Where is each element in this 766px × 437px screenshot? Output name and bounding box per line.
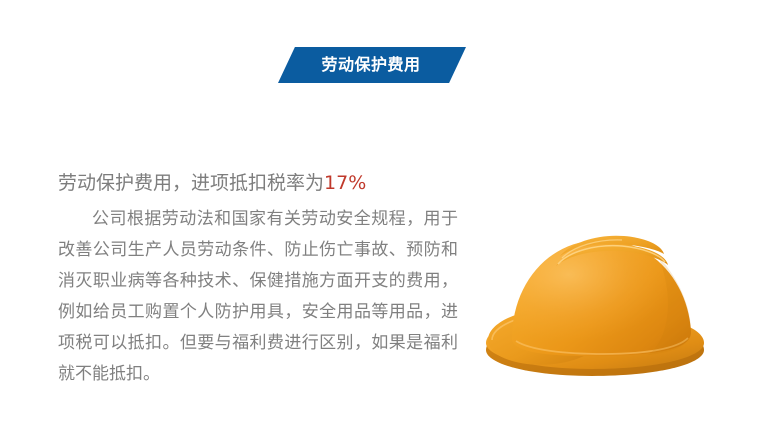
- deduction-rate-value: 17%: [324, 172, 366, 194]
- body-paragraph: 公司根据劳动法和国家有关劳动安全规程，用于改善公司生产人员劳动条件、防止伤亡事故…: [58, 204, 458, 390]
- section-title-banner: 劳动保护费用: [278, 47, 466, 83]
- lead-heading: 劳动保护费用，进项抵扣税率为17%: [58, 168, 458, 198]
- slide-canvas: 劳动保护费用 劳动保护费用，进项抵扣税率为17% 公司根据劳动法和国家有关劳动安…: [0, 0, 766, 437]
- lead-heading-prefix: 劳动保护费用，进项抵扣税率为: [58, 172, 324, 194]
- safety-helmet-illustration: [472, 200, 722, 390]
- section-title-label: 劳动保护费用: [321, 57, 420, 73]
- content-text-block: 劳动保护费用，进项抵扣税率为17% 公司根据劳动法和国家有关劳动安全规程，用于改…: [58, 168, 458, 390]
